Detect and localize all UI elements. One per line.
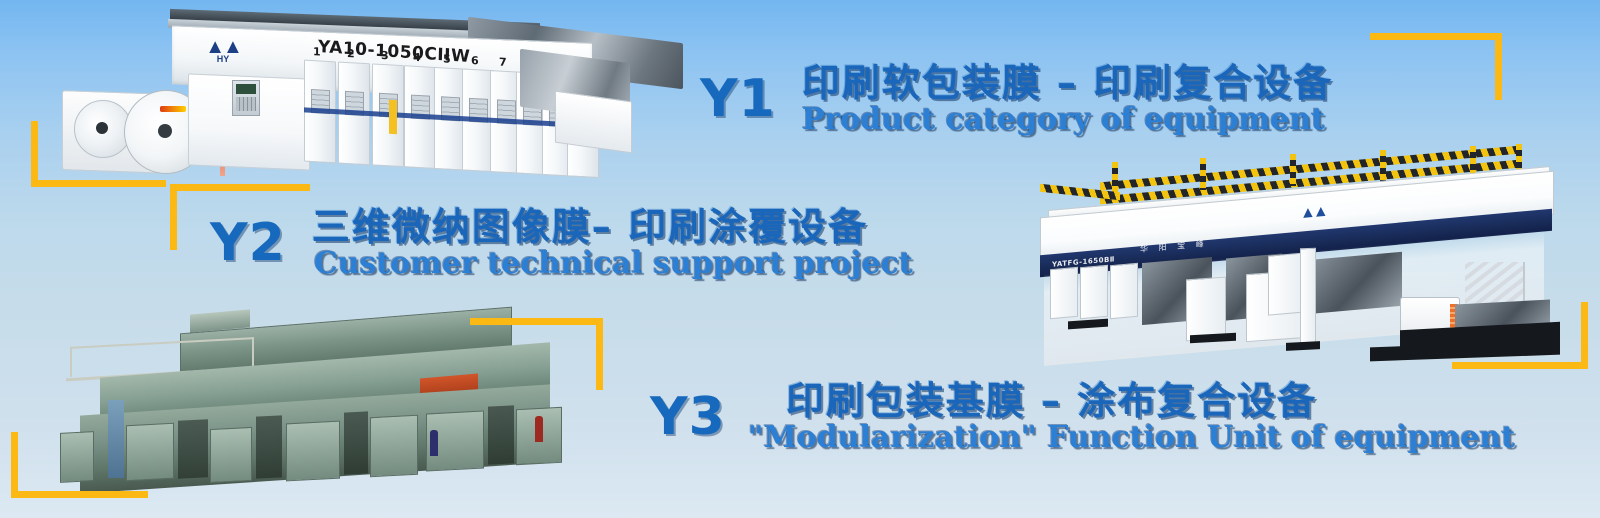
laminator-station bbox=[1050, 267, 1078, 319]
coater-shadow-gap bbox=[344, 411, 368, 474]
brand-text: HY bbox=[217, 54, 230, 64]
coater-station bbox=[210, 427, 252, 483]
entry-titles-y2: 三维微纳图像膜– 印刷涂覆设备 Customer technical suppo… bbox=[312, 206, 913, 279]
bracket-left-upper-vertical bbox=[31, 121, 38, 187]
entry-titles-y3: 印刷包装基膜 – 涂布复合设备 "Modularization" Functio… bbox=[748, 380, 1515, 453]
operator-figure bbox=[430, 430, 438, 456]
laminator-oven-section bbox=[1186, 277, 1226, 342]
bracket-top-right-vertical bbox=[1495, 33, 1502, 100]
press-rewind-cabinet bbox=[555, 91, 632, 154]
control-panel-keypad bbox=[236, 97, 256, 111]
coater-station bbox=[370, 415, 418, 478]
coater-station bbox=[126, 423, 174, 482]
entry-title-en-y1: Product category of equipment bbox=[802, 104, 1333, 136]
category-entry-y1: Y1 印刷软包装膜 – 印刷复合设备 Product category of e… bbox=[700, 62, 1333, 135]
unit-number: 1 bbox=[313, 45, 321, 58]
coater-shadow-gap bbox=[178, 419, 208, 479]
laminator-station bbox=[1080, 265, 1108, 319]
coater-shadow-gap bbox=[256, 415, 282, 478]
equipment-category-banner: ▲▲ HY YA10-1050CIIW 1 2 3 4 5 6 7 8 9 bbox=[0, 0, 1600, 518]
entry-title-en-y3: "Modularization" Function Unit of equipm… bbox=[748, 422, 1515, 454]
bracket-top-right-horizontal bbox=[1370, 33, 1502, 40]
unit-number: 7 bbox=[499, 56, 507, 69]
laminator-support-column bbox=[1300, 248, 1316, 347]
entry-title-cn-y3: 印刷包装基膜 – 涂布复合设备 bbox=[786, 380, 1515, 424]
machine-photo-base-film-coater bbox=[30, 312, 595, 490]
entry-code-y2: Y2 bbox=[210, 217, 286, 269]
laminator-brand-logo: ▲▲ bbox=[1300, 203, 1326, 223]
bracket-bottom-left-vertical bbox=[11, 432, 18, 498]
control-panel-screen bbox=[236, 84, 256, 94]
entry-title-cn-y2: 三维微纳图像膜– 印刷涂覆设备 bbox=[312, 206, 913, 250]
unit-number: 2 bbox=[347, 47, 355, 60]
unit-number: 3 bbox=[381, 49, 389, 62]
entry-title-cn-y1: 印刷软包装膜 – 印刷复合设备 bbox=[802, 62, 1333, 106]
operator-figure bbox=[535, 416, 543, 442]
press-control-panel bbox=[232, 80, 260, 116]
bracket-middle-horizontal bbox=[470, 318, 603, 325]
unit-number: 4 bbox=[413, 51, 421, 64]
category-entry-y2: Y2 三维微纳图像膜– 印刷涂覆设备 Customer technical su… bbox=[210, 206, 913, 279]
laminator-station bbox=[1110, 263, 1138, 319]
bracket-y2-vertical bbox=[170, 184, 177, 250]
bracket-left-upper-horizontal bbox=[31, 180, 166, 187]
railing-post bbox=[1200, 158, 1206, 190]
brand-glyph: ▲▲ bbox=[200, 40, 246, 54]
category-entry-y3: Y3 印刷包装基膜 – 涂布复合设备 "Modularization" Func… bbox=[650, 380, 1515, 453]
bracket-bottom-right-horizontal bbox=[1452, 362, 1588, 369]
press-brand-logo: ▲▲ HY bbox=[200, 40, 246, 64]
unit-number: 6 bbox=[471, 54, 479, 67]
railing-post bbox=[1380, 150, 1386, 184]
coater-web-path bbox=[108, 400, 124, 478]
coater-station bbox=[286, 421, 340, 482]
unit-number: 5 bbox=[443, 52, 451, 65]
bracket-middle-vertical bbox=[596, 318, 603, 390]
laminator-foot bbox=[1286, 341, 1320, 351]
machine-photo-rotogravure-press: ▲▲ HY YA10-1050CIIW 1 2 3 4 5 6 7 8 9 bbox=[60, 12, 605, 177]
entry-code-y1: Y1 bbox=[700, 73, 776, 125]
bracket-bottom-left-horizontal bbox=[11, 491, 148, 498]
railing-post bbox=[1112, 162, 1118, 192]
coater-station bbox=[60, 431, 94, 483]
bracket-y2-horizontal bbox=[170, 184, 310, 191]
laminator-dryer-tunnel bbox=[1306, 252, 1402, 314]
machine-photo-coating-laminator: ▲▲ YATFG-1650BⅡ 华 阳 宝 峰 bbox=[1000, 152, 1575, 364]
bracket-bottom-right-vertical bbox=[1581, 302, 1588, 369]
coater-shadow-gap bbox=[488, 405, 514, 464]
press-yellow-indicator bbox=[389, 100, 397, 134]
entry-code-y3: Y3 bbox=[650, 391, 726, 443]
entry-titles-y1: 印刷软包装膜 – 印刷复合设备 Product category of equi… bbox=[802, 62, 1333, 135]
entry-title-en-y2: Customer technical support project bbox=[314, 248, 913, 280]
railing-post bbox=[1290, 154, 1296, 186]
press-web-guide-marker bbox=[160, 106, 186, 112]
